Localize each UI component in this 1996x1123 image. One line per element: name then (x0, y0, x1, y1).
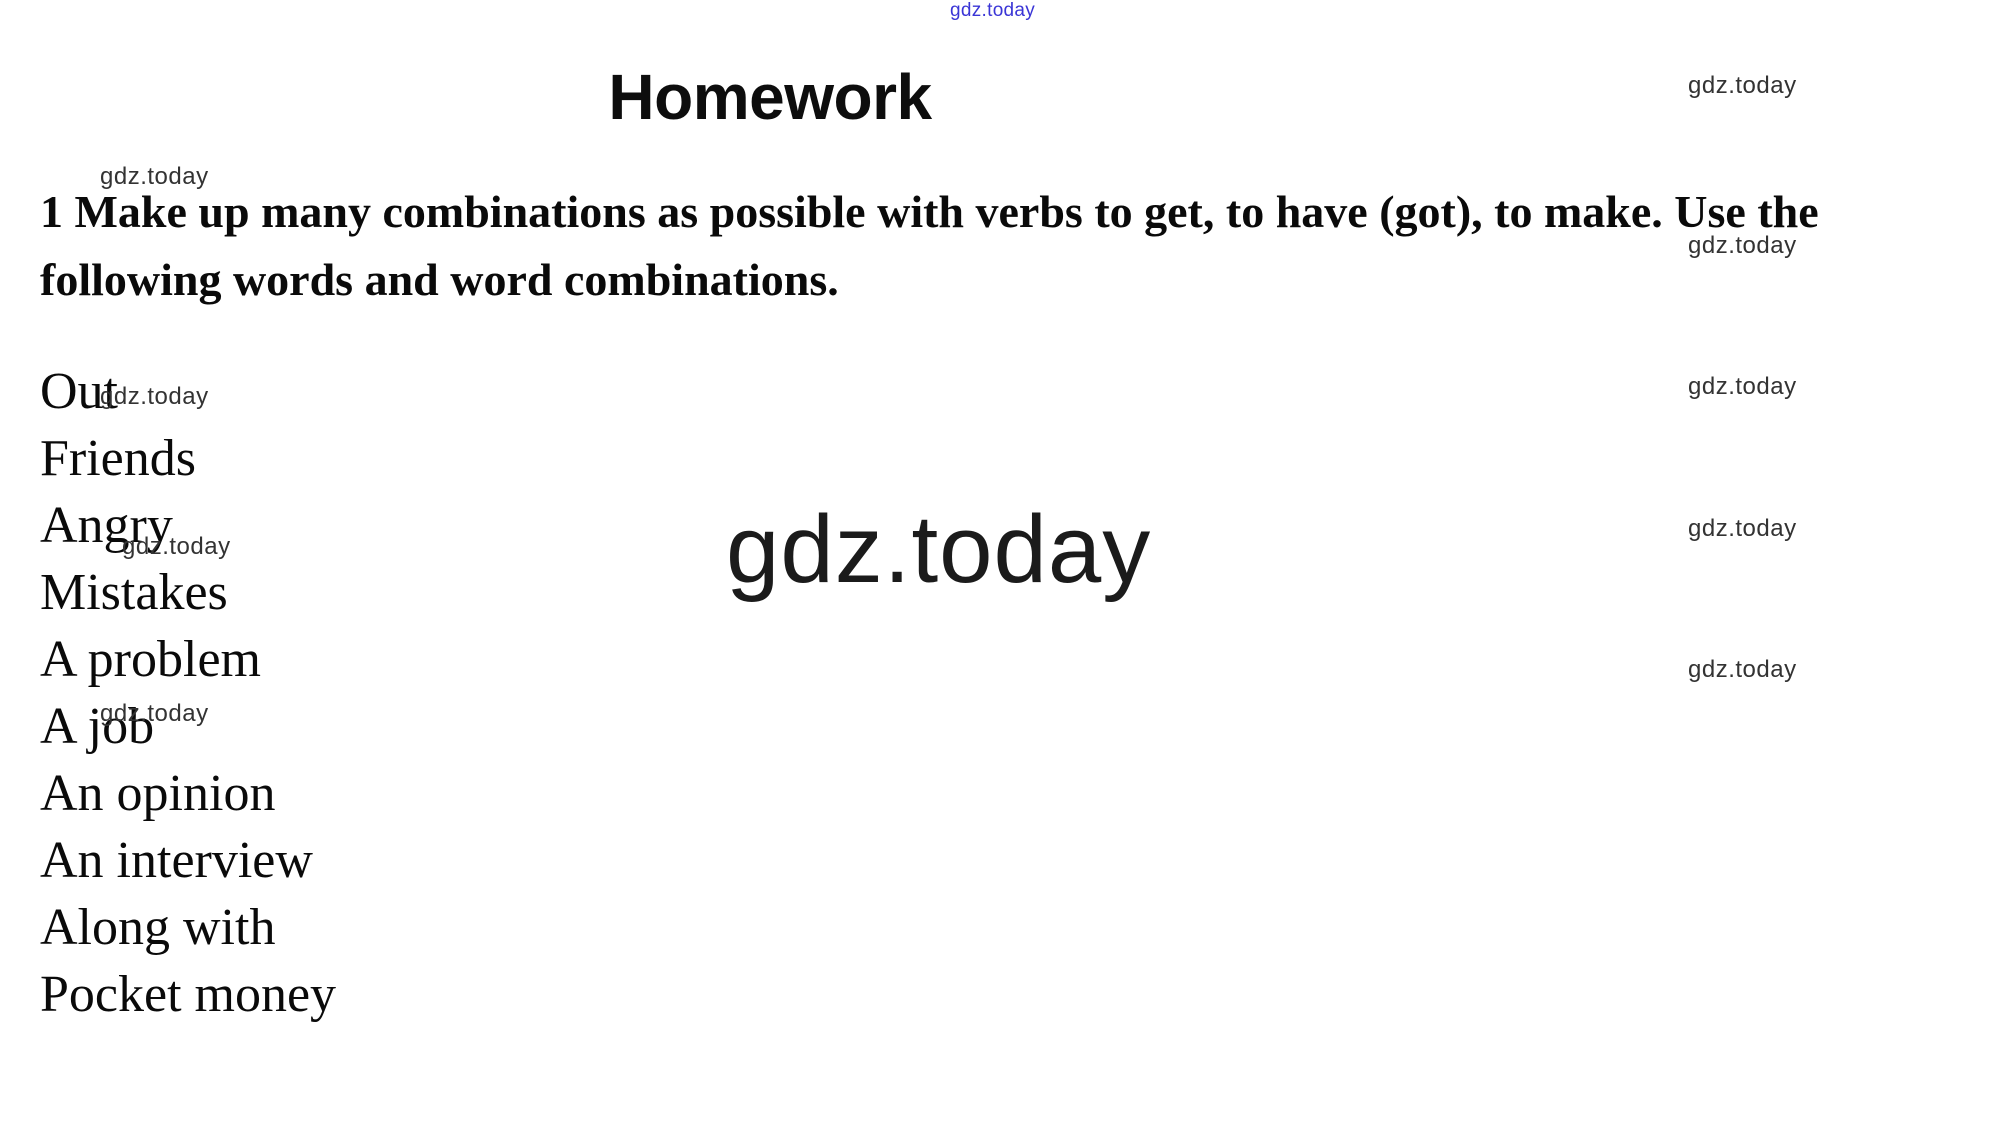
list-item: Mistakes (40, 559, 336, 626)
watermark-right-5: gdz.today (1688, 656, 1797, 684)
list-item: A problem (40, 626, 336, 693)
page-title: Homework (0, 60, 1540, 134)
watermark-top-center: gdz.today (950, 0, 1035, 22)
list-item: Pocket money (40, 961, 336, 1028)
list-item: Out (40, 358, 336, 425)
word-list: Out Friends Angry Mistakes A problem A j… (40, 358, 336, 1028)
list-item: Along with (40, 894, 336, 961)
list-item: Angry (40, 492, 336, 559)
list-item: An opinion (40, 760, 336, 827)
list-item: A job (40, 693, 336, 760)
list-item: An interview (40, 827, 336, 894)
watermark-right-1: gdz.today (1688, 72, 1797, 100)
watermark-right-4: gdz.today (1688, 515, 1797, 543)
list-item: Friends (40, 425, 336, 492)
exercise-instruction: 1 Make up many combinations as possible … (40, 178, 1930, 314)
watermark-center-large: gdz.today (726, 495, 1151, 605)
document-page: Homework 1 Make up many combinations as … (0, 0, 1996, 1123)
watermark-right-3: gdz.today (1688, 373, 1797, 401)
